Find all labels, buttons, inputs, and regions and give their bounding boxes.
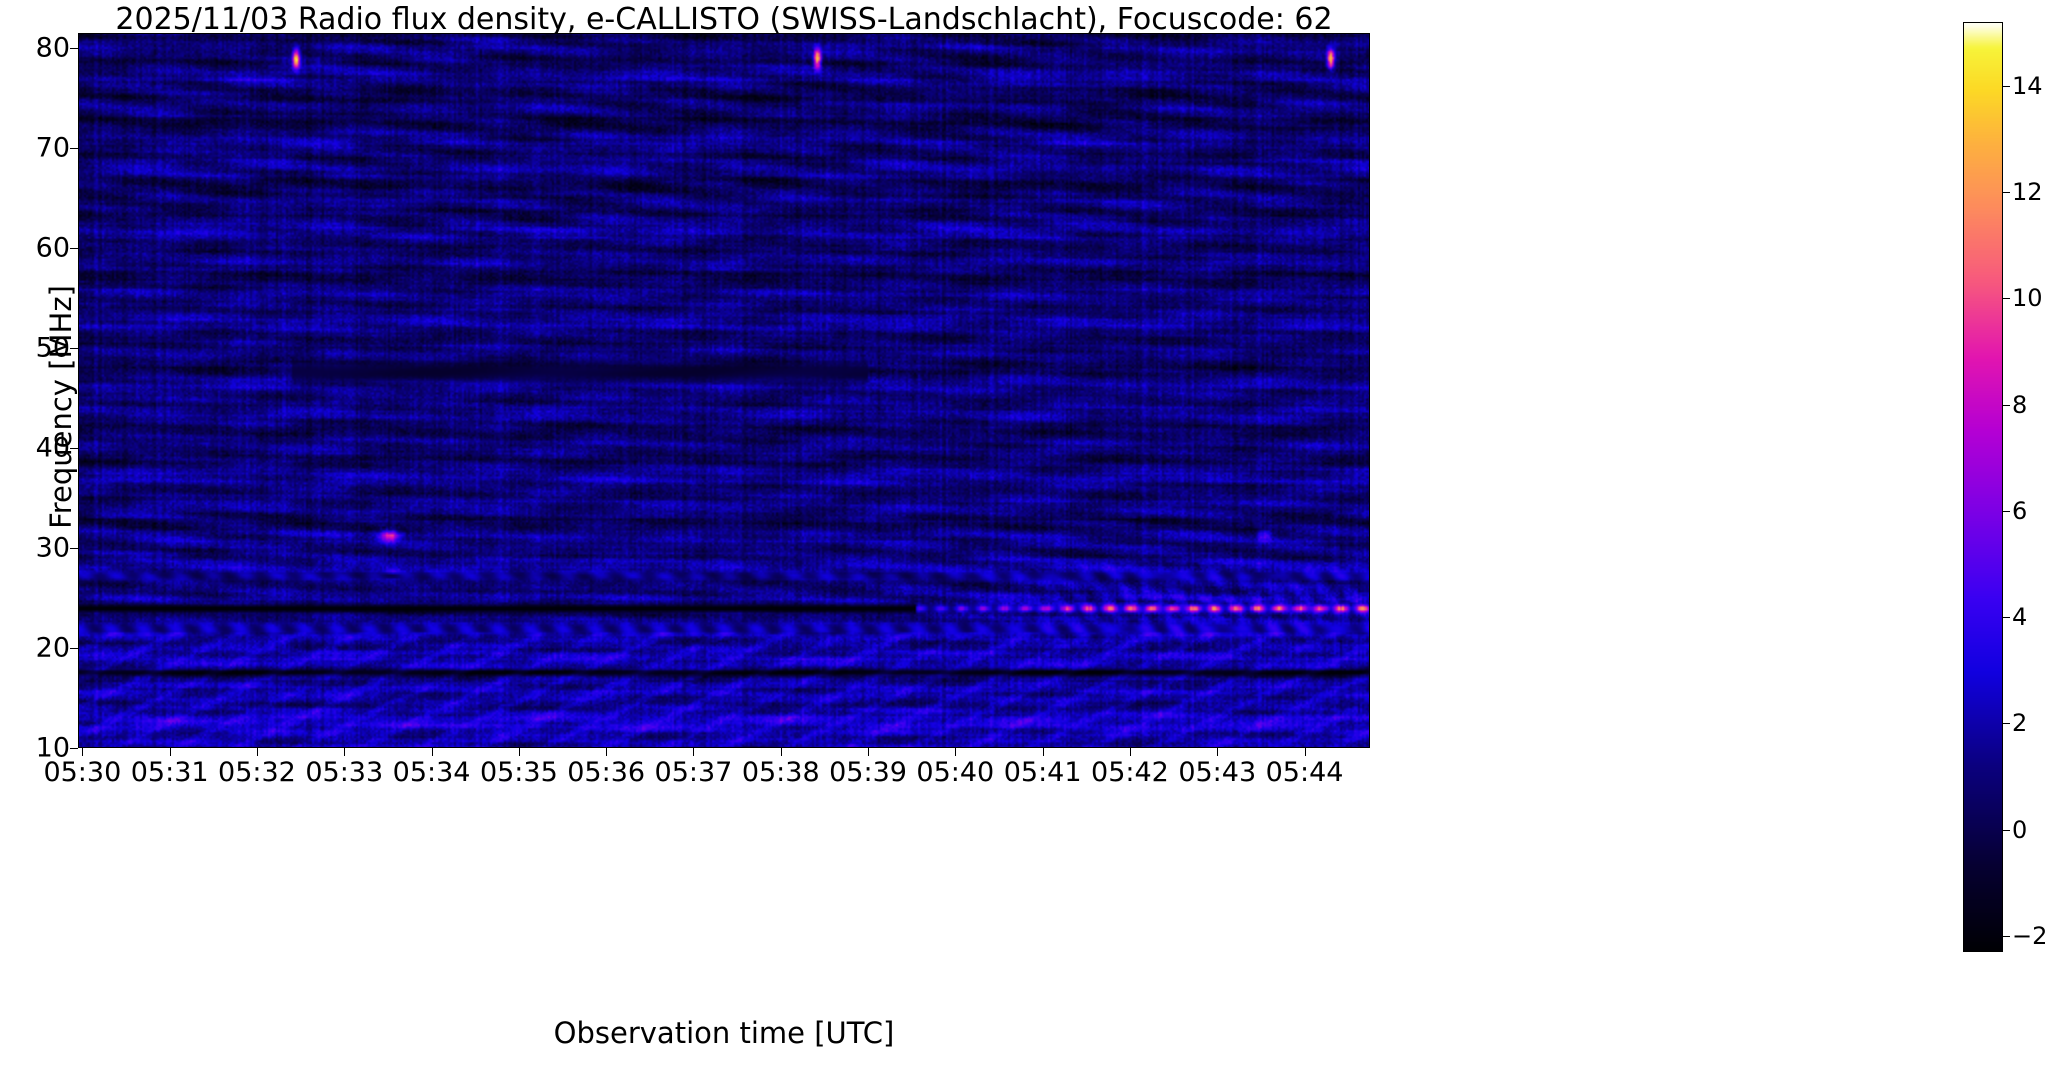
x-tick-mark (693, 748, 694, 756)
colorbar-tick-mark (2003, 192, 2010, 193)
y-tick-mark (70, 648, 78, 649)
x-tick-mark (170, 748, 171, 756)
colorbar-tick-label: 2 (2012, 709, 2047, 737)
y-tick-mark (70, 48, 78, 49)
x-tick-mark (781, 748, 782, 756)
y-tick-label: 70 (10, 133, 70, 164)
spectrogram-figure: 2025/11/03 Radio flux density, e-CALLIST… (0, 0, 2047, 1067)
x-tick-mark (1130, 748, 1131, 756)
colorbar-tick-label: −2 (2012, 922, 2047, 950)
colorbar[interactable] (1963, 22, 2003, 952)
colorbar-tick-label: 6 (2012, 497, 2047, 525)
colorbar-tick-mark (2003, 511, 2010, 512)
colorbar-tick-label: 4 (2012, 603, 2047, 631)
x-tick-mark (1043, 748, 1044, 756)
colorbar-tick-mark (2003, 298, 2010, 299)
x-tick-mark (257, 748, 258, 756)
colorbar-tick-mark (2003, 936, 2010, 937)
colorbar-tick-label: 14 (2012, 72, 2047, 100)
colorbar-tick-mark (2003, 723, 2010, 724)
colorbar-tick-label: 10 (2012, 284, 2047, 312)
x-tick-mark (432, 748, 433, 756)
x-tick-mark (1305, 748, 1306, 756)
y-tick-label: 80 (10, 33, 70, 64)
x-tick-mark (82, 748, 83, 756)
x-axis-label: Observation time [UTC] (78, 1016, 1370, 1050)
colorbar-tick-label: 0 (2012, 816, 2047, 844)
colorbar-gradient (1964, 23, 2002, 951)
spectrogram-plot-area[interactable] (78, 33, 1370, 748)
y-tick-label: 20 (10, 633, 70, 664)
colorbar-tick-mark (2003, 86, 2010, 87)
page-title: 2025/11/03 Radio flux density, e-CALLIST… (78, 2, 1370, 37)
colorbar-tick-label: 8 (2012, 391, 2047, 419)
x-tick-mark (955, 748, 956, 756)
y-axis-label: Frequency [MHz] (44, 207, 78, 607)
spectrogram-canvas (78, 33, 1370, 748)
y-tick-mark (70, 148, 78, 149)
colorbar-tick-label: 12 (2012, 178, 2047, 206)
x-tick-mark (519, 748, 520, 756)
x-tick-mark (344, 748, 345, 756)
x-tick-mark (1217, 748, 1218, 756)
colorbar-tick-mark (2003, 617, 2010, 618)
x-tick-mark (606, 748, 607, 756)
colorbar-tick-mark (2003, 830, 2010, 831)
y-tick-mark (70, 748, 78, 749)
colorbar-tick-mark (2003, 405, 2010, 406)
x-tick-mark (868, 748, 869, 756)
x-tick-label: 05:44 (1235, 757, 1375, 788)
